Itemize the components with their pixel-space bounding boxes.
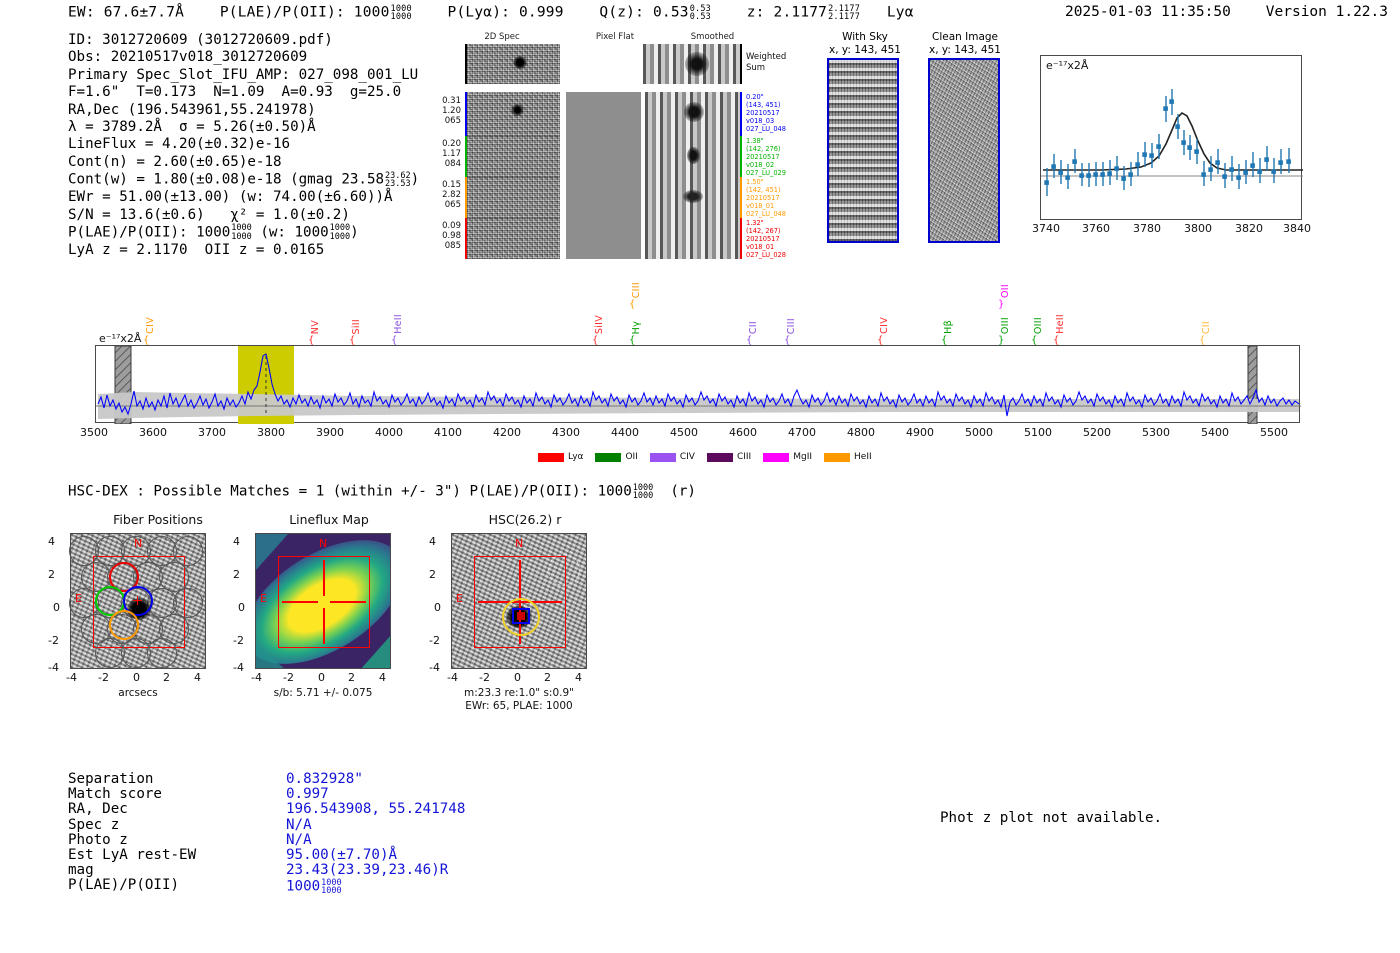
info-line-primary: Primary Spec_Slot_IFU_AMP: 027_098_001_L…: [68, 67, 419, 84]
header-plya: P(Lyα): 0.999: [448, 5, 564, 21]
row-key-photo-z: Photo z: [68, 833, 128, 848]
row-value-match-score: 0.997: [286, 787, 329, 802]
line-marker-cii-2: CII: [1201, 321, 1212, 334]
legend-item-mgii: MgII: [763, 452, 812, 462]
line-marker-heii-2: HeII: [1055, 314, 1066, 334]
info-line-cont-n: Cont(n) = 2.60(±0.65)e-18: [68, 154, 419, 171]
montage-col-smoothed: Smoothed: [665, 32, 760, 42]
hsc-sub-label-1: m:23.3 re:1.0" s:0.9": [426, 687, 612, 700]
info-line-ewr: EWr = 51.00(±13.00) (w: 74.00(±6.60))Å: [68, 189, 419, 206]
fiber-row-1-right-labels: 0.20" (143, 451) 20210517 v018_03 027_LU…: [746, 93, 802, 133]
hscdex-plae-fraction: 10001000: [633, 484, 653, 501]
line-fit-plot: e⁻¹⁷x2Å -20 24 68: [1040, 55, 1302, 220]
fiber-target-cross-v: [137, 596, 138, 605]
fiber-east-label: E: [75, 592, 82, 605]
hsc-north-label: N: [515, 537, 523, 550]
fiber-circle-orange: [109, 610, 139, 640]
line-bracket-ciii-2: {: [629, 299, 635, 310]
header-z-suffix: Lyα: [887, 5, 914, 21]
line-marker-ciii-1: CIII: [786, 318, 797, 334]
row-value-plae: 100010001000: [286, 878, 342, 895]
row-key-plae: P(LAE)/P(OII): [68, 878, 179, 893]
header-summary-line: EW: 67.6±7.7Å P(LAE)/P(OII): 10001000100…: [68, 4, 914, 21]
line-marker-nv: NV: [310, 320, 321, 334]
spectrum-xticks: 3500 3600 3700 3800 3900 4000 4100 4200 …: [95, 426, 1300, 442]
weighted-sum-row: Weighted Sum: [465, 44, 742, 84]
fiber-north-label: N: [134, 537, 142, 550]
row-value-spec-z: N/A: [286, 818, 312, 833]
fiber-row-1: 0.31 1.20 065 0.20" (143, 451) 20210517 …: [465, 92, 742, 136]
legend-item-heii: HeII: [824, 452, 872, 462]
header-qz-fraction: 0.530.53: [690, 5, 711, 22]
fiber-xlabel: arcsecs: [70, 687, 206, 700]
info-line-plae: P(LAE)/P(OII): 100010001000 (w: 10001000…: [68, 224, 419, 242]
fiber-row-3-left-labels: 0.15 2.82 065: [427, 180, 461, 210]
spectrum-flux-unit-label: e⁻¹⁷x2Å: [99, 332, 141, 345]
spectrum-legend: Lyα OII CIV CIII MgII HeII: [538, 452, 872, 462]
montage-col-2dspec: 2D Spec: [447, 32, 557, 42]
header-ew: EW: 67.6±7.7Å: [68, 5, 184, 21]
row-key-radec: RA, Dec: [68, 802, 128, 817]
hsc-xticks: -4 -2 0 2 4: [451, 671, 587, 685]
row-value-radec: 196.543908, 55.241748: [286, 802, 465, 817]
full-spectrum-plot: 0 5 e⁻¹⁷x2Å: [95, 345, 1300, 423]
hsc-core-marker: [517, 612, 525, 620]
info-line-lineflux: LineFlux = 4.20(±0.32)e-16: [68, 136, 419, 153]
linefit-svg: -20 24 68: [1041, 56, 1303, 221]
line-marker-oii: OII: [1000, 284, 1011, 298]
spectra-montage: 2D Spec Pixel Flat Smoothed Weighted Sum…: [425, 30, 785, 260]
fiber-row-4-left-labels: 0.09 0.98 085: [427, 221, 461, 251]
info-plae-fraction: 10001000: [231, 224, 251, 241]
fiber-row-4-right-labels: 1.32" (142, 267) 20210517 v018_01 027_LU…: [746, 219, 802, 259]
line-marker-civ-2: CIV: [879, 317, 890, 334]
header-qz-label: Q(z): 0.53: [599, 5, 688, 21]
lineflux-xticks: -4 -2 0 2 4: [255, 671, 391, 685]
row-key-separation: Separation: [68, 772, 153, 787]
table-plae-fraction: 10001000: [321, 879, 341, 896]
info-plae-w-fraction: 10001000: [330, 224, 350, 241]
fiber-positions-title: Fiber Positions: [63, 512, 253, 527]
line-marker-siiv: SiIV: [594, 315, 605, 334]
info-line-radec: RA,Dec (196.543961,55.241978): [68, 102, 419, 119]
detection-info-block: ID: 3012720609 (3012720609.pdf) Obs: 202…: [68, 32, 419, 259]
info-line-lambda: λ = 3789.2Å σ = 5.26(±0.50)Å: [68, 119, 419, 136]
weighted-sum-label: Weighted Sum: [746, 52, 800, 74]
fiber-positions-image: N E: [70, 533, 206, 669]
info-line-id: ID: 3012720609 (3012720609.pdf): [68, 32, 419, 49]
hsc-east-label: E: [456, 592, 463, 605]
legend-item-civ: CIV: [650, 452, 695, 462]
row-value-mag: 23.43(23.39,23.46)R: [286, 863, 448, 878]
lineflux-sub-label: s/b: 5.71 +/- 0.075: [240, 687, 406, 700]
legend-item-ciii: CIII: [707, 452, 751, 462]
hsc-sub-label-2: EWr: 65, PLAE: 1000: [426, 700, 612, 713]
photz-unavailable-message: Phot z plot not available.: [940, 810, 1162, 826]
line-marker-oiii-2: OIII: [1033, 317, 1044, 334]
hsc-image-title: HSC(26.2) r: [440, 512, 610, 527]
linefit-xticks: 3740 3760 3780 3800 3820 3840: [1040, 222, 1302, 238]
fiber-yticks: 4 2 0 -2 -4: [48, 533, 68, 669]
header-z-label: z: 2.1177: [747, 5, 827, 21]
fiber-row-1-left-labels: 0.31 1.20 065: [427, 96, 461, 126]
fiber-row-2: 0.20 1.17 084 1.38" (142, 276) 20210517 …: [465, 136, 742, 177]
line-marker-hgamma: Hγ: [631, 321, 642, 334]
hsc-image: N E: [451, 533, 587, 669]
line-marker-hbeta: Hβ: [943, 320, 954, 334]
info-line-cont-w: Cont(w) = 1.80(±0.08)e-18 (gmag 23.5823.…: [68, 171, 419, 189]
hsc-yticks: 4 2 0 -2 -4: [429, 533, 449, 669]
with-sky-image: [827, 58, 899, 243]
clean-image-title: Clean Image x, y: 143, 451: [915, 31, 1015, 56]
line-marker-siii: SiII: [351, 319, 362, 334]
line-marker-cii-1: CII: [748, 321, 759, 334]
row-value-photo-z: N/A: [286, 833, 312, 848]
line-bracket-oii: }: [998, 299, 1004, 310]
lineflux-map-image: N E: [255, 533, 391, 669]
fiber-row-3: 0.15 2.82 065 1.50" (142, 451) 20210517 …: [465, 177, 742, 218]
line-marker-ciii-2: CIII: [631, 282, 642, 298]
lineflux-yticks: 4 2 0 -2 -4: [233, 533, 253, 669]
fiber-row-2-right-labels: 1.38" (142, 276) 20210517 v018_02 027_LU…: [746, 137, 802, 177]
with-sky-title: With Sky x, y: 143, 451: [822, 31, 908, 56]
version-text: Version 1.22.3: [1266, 4, 1388, 20]
full-spectrum-svg: 0 5: [96, 346, 1301, 424]
row-value-est-lya-ew: 95.00(±7.70)Å: [286, 848, 397, 863]
fiber-row-3-right-labels: 1.50" (142, 451) 20210517 v018_01 027_LU…: [746, 178, 802, 218]
lineflux-map-title: Lineflux Map: [244, 512, 414, 527]
line-marker-heii-1: HeII: [393, 314, 404, 334]
timestamp-text: 2025-01-03 11:35:50: [1065, 4, 1231, 20]
row-key-match-score: Match score: [68, 787, 162, 802]
row-key-est-lya-ew: Est LyA rest-EW: [68, 848, 196, 863]
header-z-fraction: 2.11772.1177: [828, 5, 860, 22]
fiber-row-4: 0.09 0.98 085 1.32" (142, 267) 20210517 …: [465, 218, 742, 259]
info-line-obs: Obs: 20210517v018_3012720609: [68, 49, 419, 66]
info-line-params: F=1.6" T=0.173 N=1.09 A=0.93 g=25.0: [68, 84, 419, 101]
info-line-sn: S/N = 13.6(±0.6) χ² = 1.0(±0.2): [68, 207, 419, 224]
hsc-faint-halo: [548, 554, 580, 586]
spectrum-line-markers: CIV { NV { SiII { HeII { SiIV { Hγ { CII…: [95, 282, 1300, 346]
fiber-xticks: -4 -2 0 2 4: [70, 671, 206, 685]
fiber-row-2-left-labels: 0.20 1.17 084: [427, 139, 461, 169]
clean-image: [928, 58, 1000, 243]
hscdex-match-heading: HSC-DEX : Possible Matches = 1 (within +…: [68, 483, 696, 500]
montage-col-pixelflat: Pixel Flat: [565, 32, 665, 42]
header-plae-label: P(LAE)/P(OII): 1000: [220, 5, 390, 21]
info-line-z: LyA z = 2.1170 OII z = 0.0165: [68, 242, 419, 259]
header-plae-fraction: 10001000: [391, 5, 412, 22]
line-marker-oiii-1: OIII: [1000, 317, 1011, 334]
lineflux-east-label: E: [260, 592, 267, 605]
line-marker-civ-1: CIV: [145, 317, 156, 334]
lineflux-north-label: N: [319, 537, 327, 550]
header-timestamp-version: 2025-01-03 11:35:50 Version 1.22.3: [1065, 4, 1388, 20]
row-key-mag: mag: [68, 863, 94, 878]
legend-item-lya: Lyα: [538, 452, 583, 462]
row-key-spec-z: Spec z: [68, 818, 119, 833]
legend-item-oii: OII: [595, 452, 637, 462]
gmag-fraction: 23.6223.53: [385, 172, 411, 189]
row-value-separation: 0.832928": [286, 772, 363, 787]
